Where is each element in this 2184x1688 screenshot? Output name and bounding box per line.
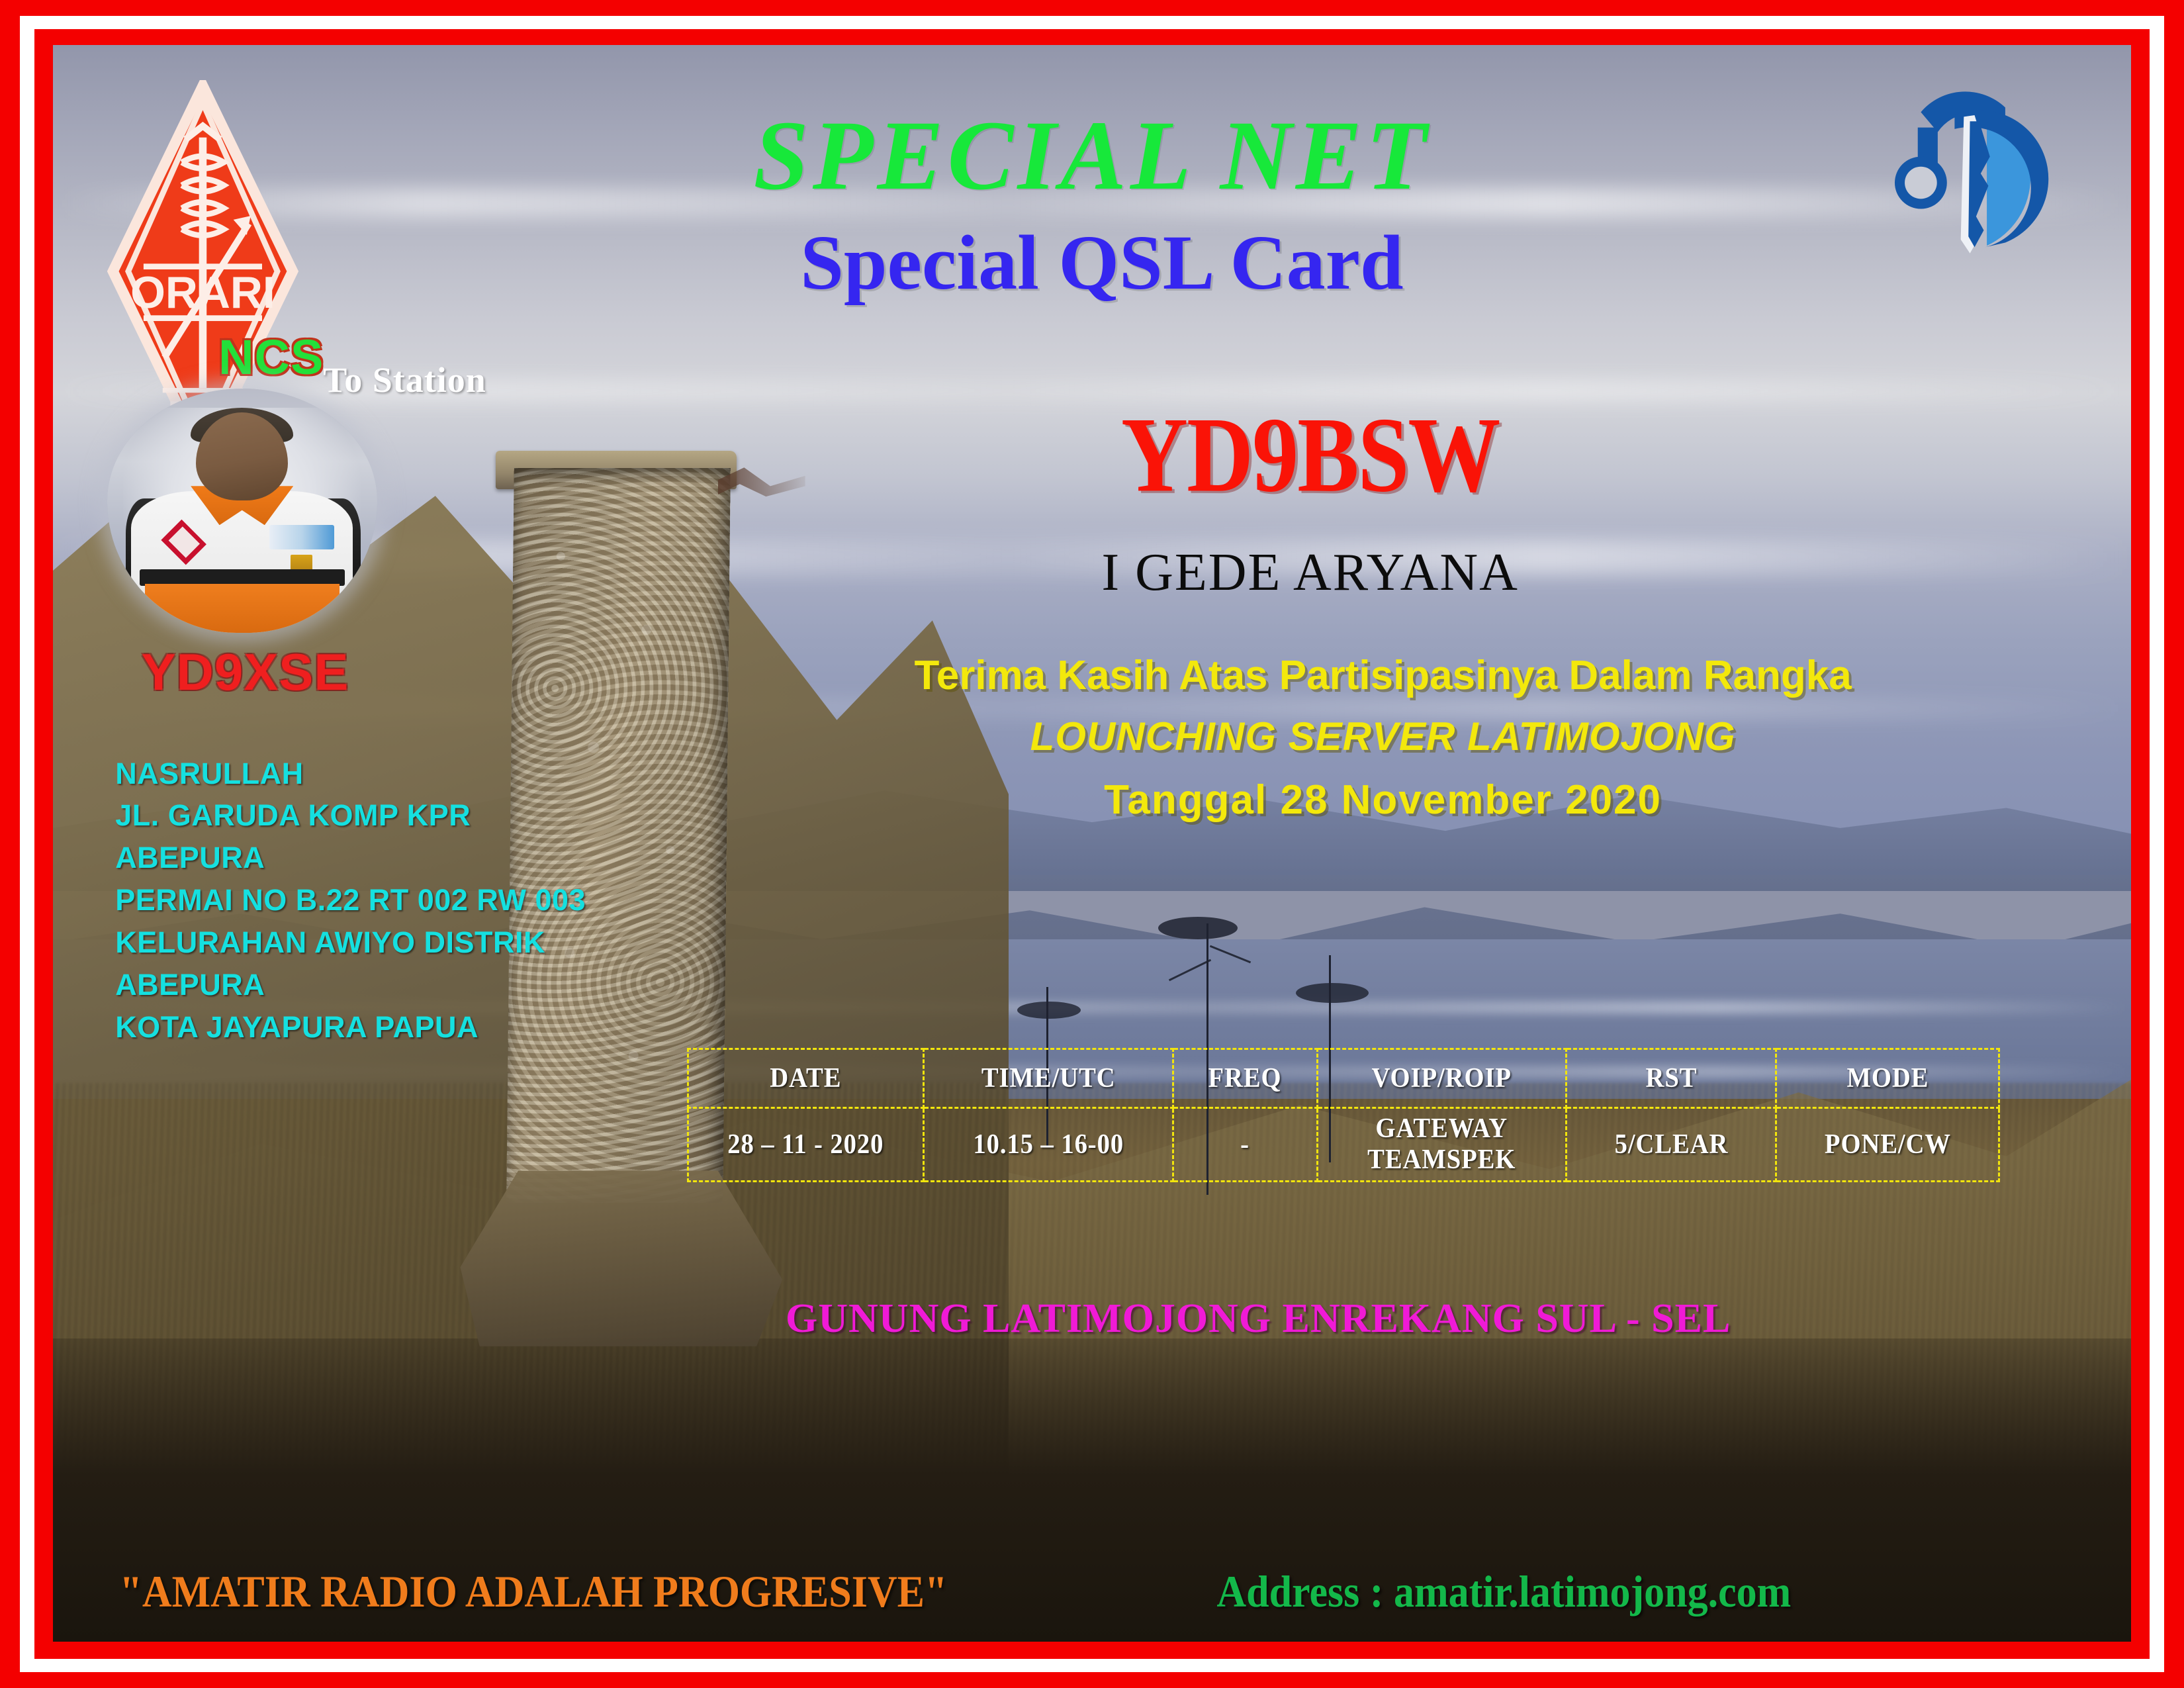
- tree-crown: [1296, 983, 1369, 1003]
- thanks-block: Terima Kasih Atas Partisipasinya Dalam R…: [739, 652, 2027, 823]
- address-line: NASRULLAH: [115, 753, 586, 795]
- operator-name: I GEDE ARYANA: [811, 546, 1809, 599]
- cell-freq: -: [1179, 1107, 1312, 1181]
- cell-voip: GATEWAY TEAMSPEK: [1327, 1107, 1556, 1181]
- thanks-line-2: LOUNCHING SERVER LATIMOJONG: [739, 714, 2027, 759]
- column-header-mode: MODE: [1785, 1049, 1990, 1107]
- website-address: Address : amatir.latimojong.com: [1216, 1567, 1791, 1618]
- card-photo-plate: ORARI SPECIAL NET: [53, 45, 2131, 1642]
- cell-time: 10.15 – 16-00: [934, 1107, 1163, 1181]
- column-header-rst: RST: [1574, 1049, 1768, 1107]
- thanks-line-1: Terima Kasih Atas Partisipasinya Dalam R…: [739, 652, 2027, 699]
- thanks-line-3: Tanggal 28 November 2020: [739, 776, 2027, 823]
- cell-voip-line-1: GATEWAY: [1328, 1113, 1556, 1145]
- cell-date: 28 – 11 - 2020: [697, 1107, 914, 1181]
- address-line: PERMAI NO B.22 RT 002 RW 003: [115, 879, 586, 921]
- ncs-label: NCS: [157, 329, 385, 385]
- cell-voip-line-2: TEAMSPEK: [1328, 1145, 1556, 1176]
- column-header-time: TIME/UTC: [934, 1049, 1163, 1107]
- address-line: ABEPURA: [115, 964, 586, 1006]
- page-subtitle: Special QSL Card: [53, 224, 2131, 302]
- motto-text: "AMATIR RADIO ADALAH PROGRESIVE": [119, 1567, 947, 1618]
- location-caption: GUNUNG LATIMOJONG ENREKANG SUL - SEL: [635, 1295, 1882, 1342]
- address-line: ABEPURA: [115, 837, 586, 879]
- table-row: 28 – 11 - 2020 10.15 – 16-00 - GATEWAY T…: [688, 1107, 1999, 1181]
- ncs-callsign: YD9XSE: [95, 642, 396, 702]
- qsl-card: ORARI SPECIAL NET: [0, 0, 2184, 1688]
- column-header-voip: VOIP/ROIP: [1327, 1049, 1556, 1107]
- column-header-freq: FREQ: [1179, 1049, 1312, 1107]
- address-line: KOTA JAYAPURA PAPUA: [115, 1006, 586, 1049]
- cell-mode: PONE/CW: [1785, 1107, 1990, 1181]
- tree-crown: [1158, 917, 1238, 939]
- cell-rst: 5/CLEAR: [1574, 1107, 1768, 1181]
- page-title: SPECIAL NET: [53, 106, 2131, 205]
- recipient-address: NASRULLAH JL. GARUDA KOMP KPR ABEPURA PE…: [115, 753, 586, 1049]
- station-callsign: YD9BSW: [895, 402, 1726, 509]
- address-line: KELURAHAN AWIYO DISTRIK: [115, 921, 586, 964]
- address-line: JL. GARUDA KOMP KPR: [115, 794, 586, 837]
- column-header-date: DATE: [697, 1049, 914, 1107]
- qso-log-table: DATE TIME/UTC FREQ VOIP/ROIP RST MODE 28…: [687, 1048, 2000, 1182]
- ncs-operator-photo: [107, 389, 377, 633]
- table-header-row: DATE TIME/UTC FREQ VOIP/ROIP RST MODE: [688, 1049, 1999, 1107]
